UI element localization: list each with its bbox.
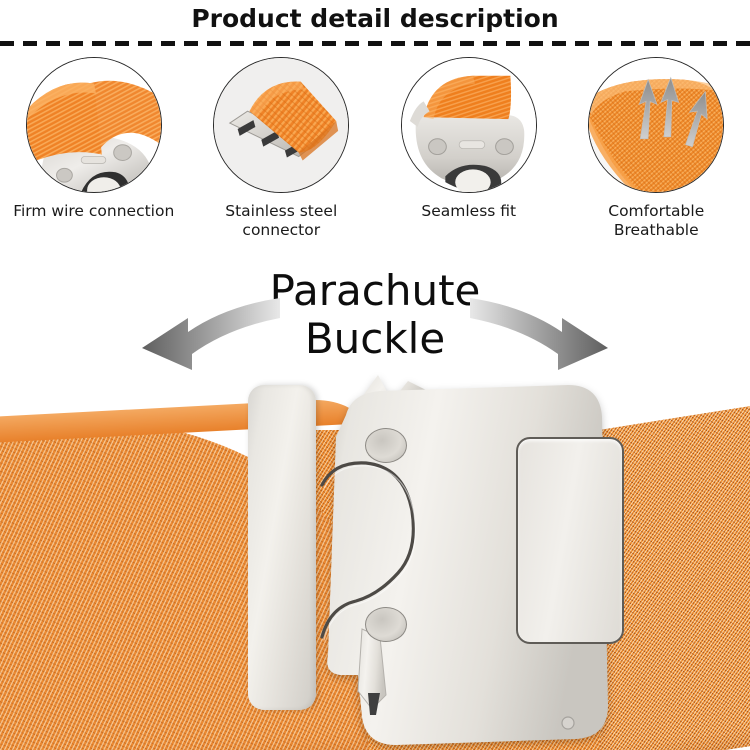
product-detail-page: Product detail description: [0, 0, 750, 750]
curved-arrow-left-icon: [140, 296, 280, 378]
watch-back-seamless-closeup-icon: [401, 57, 537, 193]
watch-band-connector-closeup-icon: [26, 57, 162, 193]
buckle-release-seam: [300, 375, 622, 750]
buckle-heading: Parachute Buckle: [0, 267, 750, 363]
page-title: Product detail description: [0, 2, 750, 36]
feature-caption: Seamless fit: [381, 202, 557, 221]
feature-caption: Firm wire connection: [6, 202, 182, 221]
feature-list: Firm wire connection: [0, 57, 750, 247]
stainless-steel-lug-closeup-icon: [213, 57, 349, 193]
breathable-airflow-arrows-icon: [588, 57, 724, 193]
feature-item-firm-wire-connection[interactable]: Firm wire connection: [0, 57, 188, 247]
feature-item-seamless-fit[interactable]: Seamless fit: [375, 57, 563, 247]
dashed-divider: [0, 41, 750, 46]
curved-arrow-right-icon: [470, 296, 610, 378]
feature-caption: Comfortable Breathable: [568, 202, 744, 240]
feature-caption: Stainless steel connector: [193, 202, 369, 240]
feature-item-comfortable-breathable[interactable]: Comfortable Breathable: [563, 57, 750, 247]
feature-item-stainless-steel-connector[interactable]: Stainless steel connector: [188, 57, 376, 247]
